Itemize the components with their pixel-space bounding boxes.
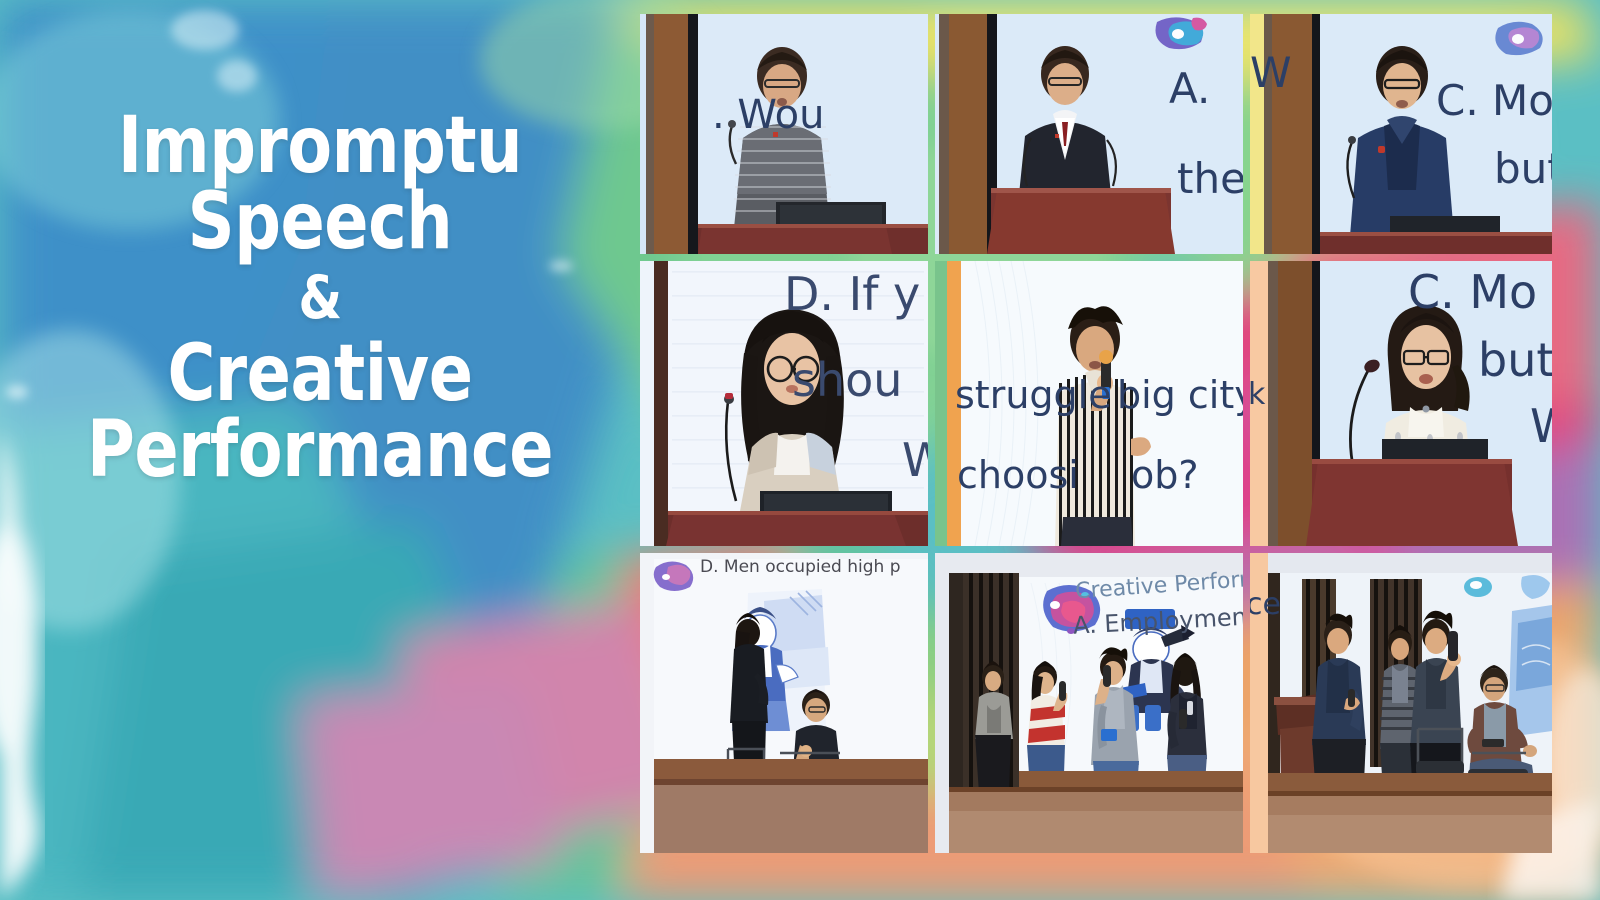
title-line-2: Speech [22,184,617,260]
photo-row2-col1: D. If y shou W [640,261,928,546]
photo-row1-col3: C. Mo but W [1250,14,1552,254]
poster-canvas: Impromptu Speech & Creative Performance [0,0,1600,900]
title-line-1: Impromptu [22,108,617,184]
photo-row3-col3: ce [1250,553,1552,853]
photo-row2-col3: C. Mo but W k [1250,261,1552,546]
title-line-3: & [22,261,617,336]
photo-grid: . Wou [640,14,1552,863]
photo-row1-col2: A. the [935,14,1243,254]
page-title: Impromptu Speech & Creative Performance [0,108,640,489]
photo-row3-col2: Creative Performance A. Employment [935,553,1243,853]
photo-row3-col1: D. Men occupied high p [640,553,928,853]
photo-row1-col1: . Wou [640,14,928,254]
title-line-4: Creative [22,336,617,412]
photo-row2-col2: struggle big city li choosi ob? [935,261,1243,546]
title-line-5: Performance [22,412,617,488]
